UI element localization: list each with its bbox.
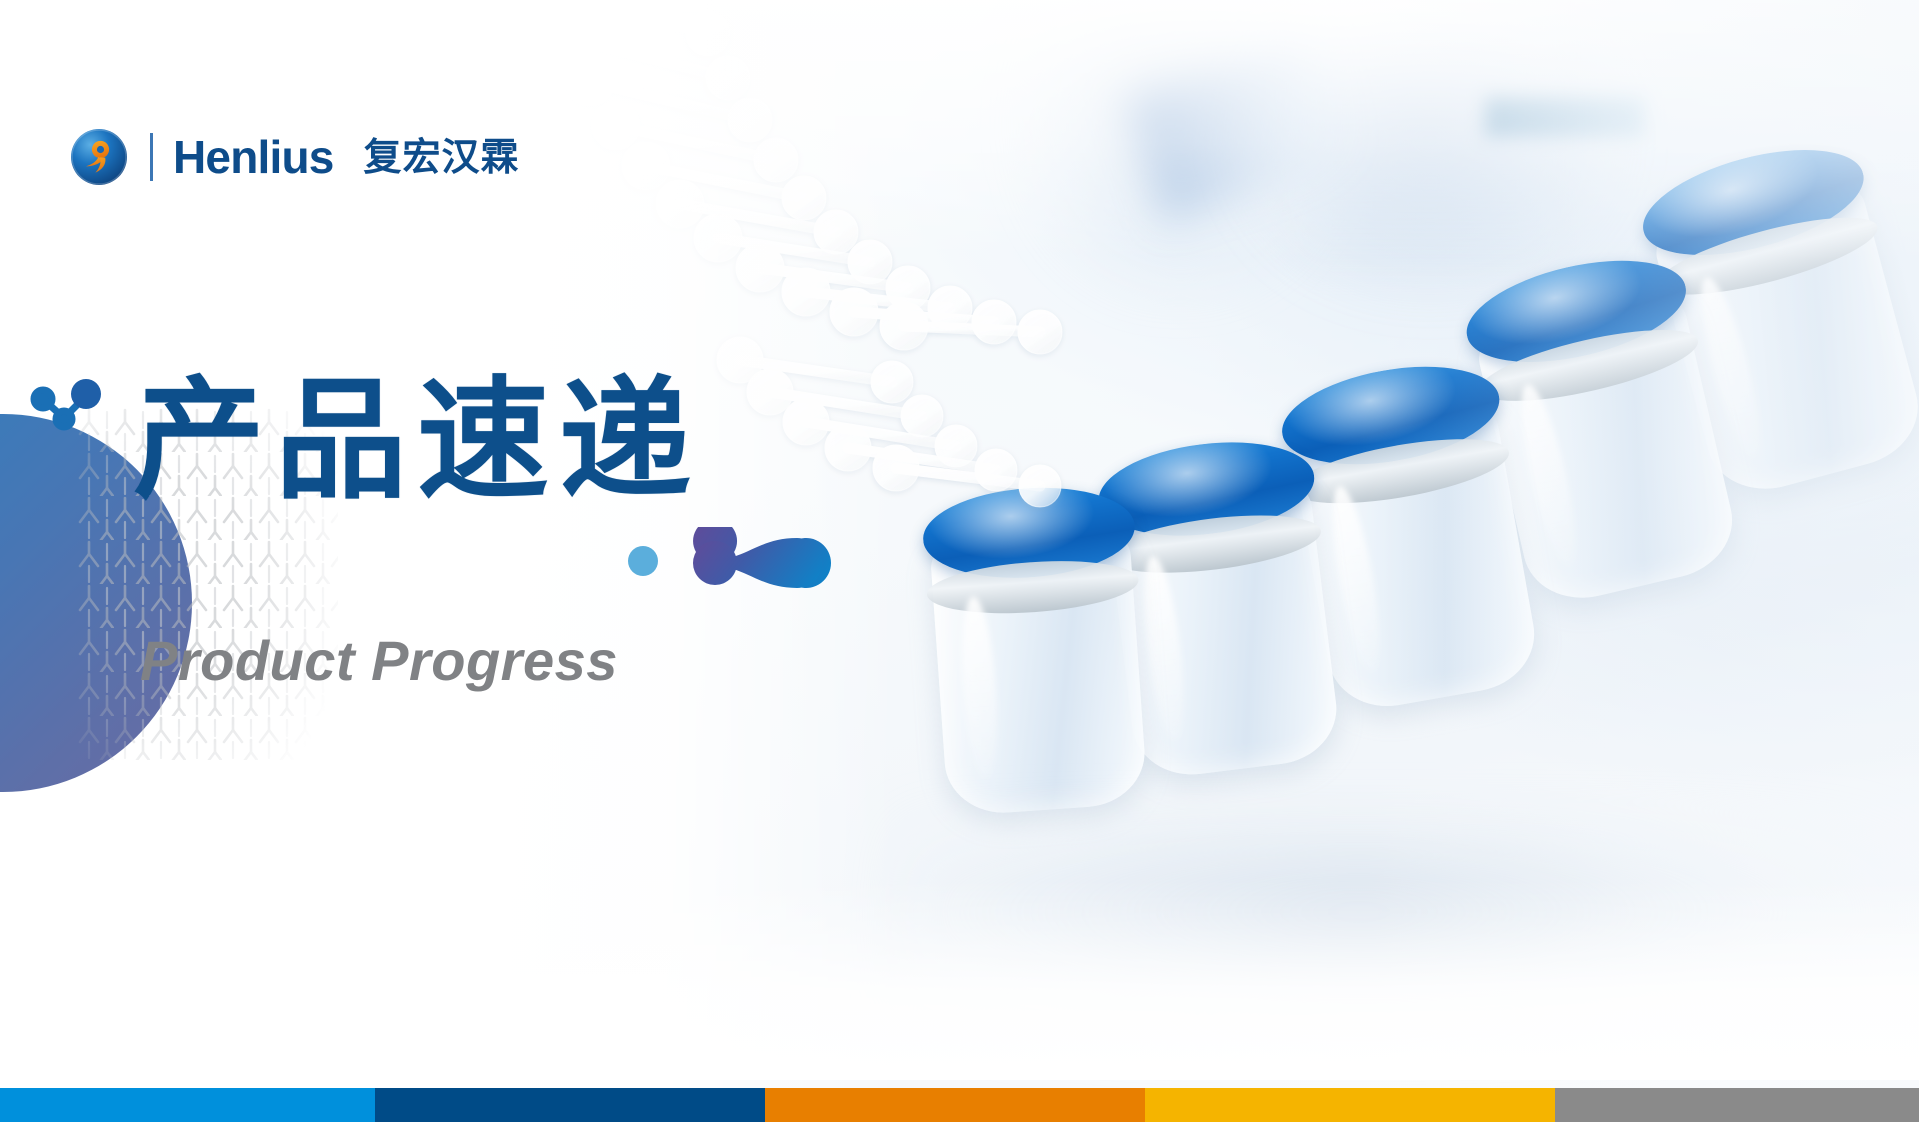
page-subtitle-en: Product Progress (140, 633, 618, 689)
footer-color-bar (0, 1088, 1919, 1122)
slide-canvas: Henlius 复宏汉霖 产品速递 Product Progress (0, 0, 1919, 1122)
segment-dark-blue (375, 1088, 765, 1122)
logo-divider (150, 133, 153, 181)
page-title-cn: 产品速递 (133, 370, 701, 513)
accent-dot (628, 546, 658, 576)
segment-light-blue (0, 1088, 375, 1122)
segment-gray (1555, 1088, 1919, 1122)
bottom-white-wash (0, 880, 1919, 1080)
logo-wordmark-en: Henlius (173, 134, 334, 180)
henlius-logo[interactable]: Henlius 复宏汉霖 (70, 126, 520, 188)
molecule-dumbbell-icon (693, 527, 838, 599)
logo-wordmark-cn: 复宏汉霖 (364, 138, 520, 176)
molecule-node-icon (30, 378, 108, 436)
segment-orange (765, 1088, 1145, 1122)
segment-amber (1145, 1088, 1555, 1122)
henlius-circular-mark (70, 128, 128, 186)
